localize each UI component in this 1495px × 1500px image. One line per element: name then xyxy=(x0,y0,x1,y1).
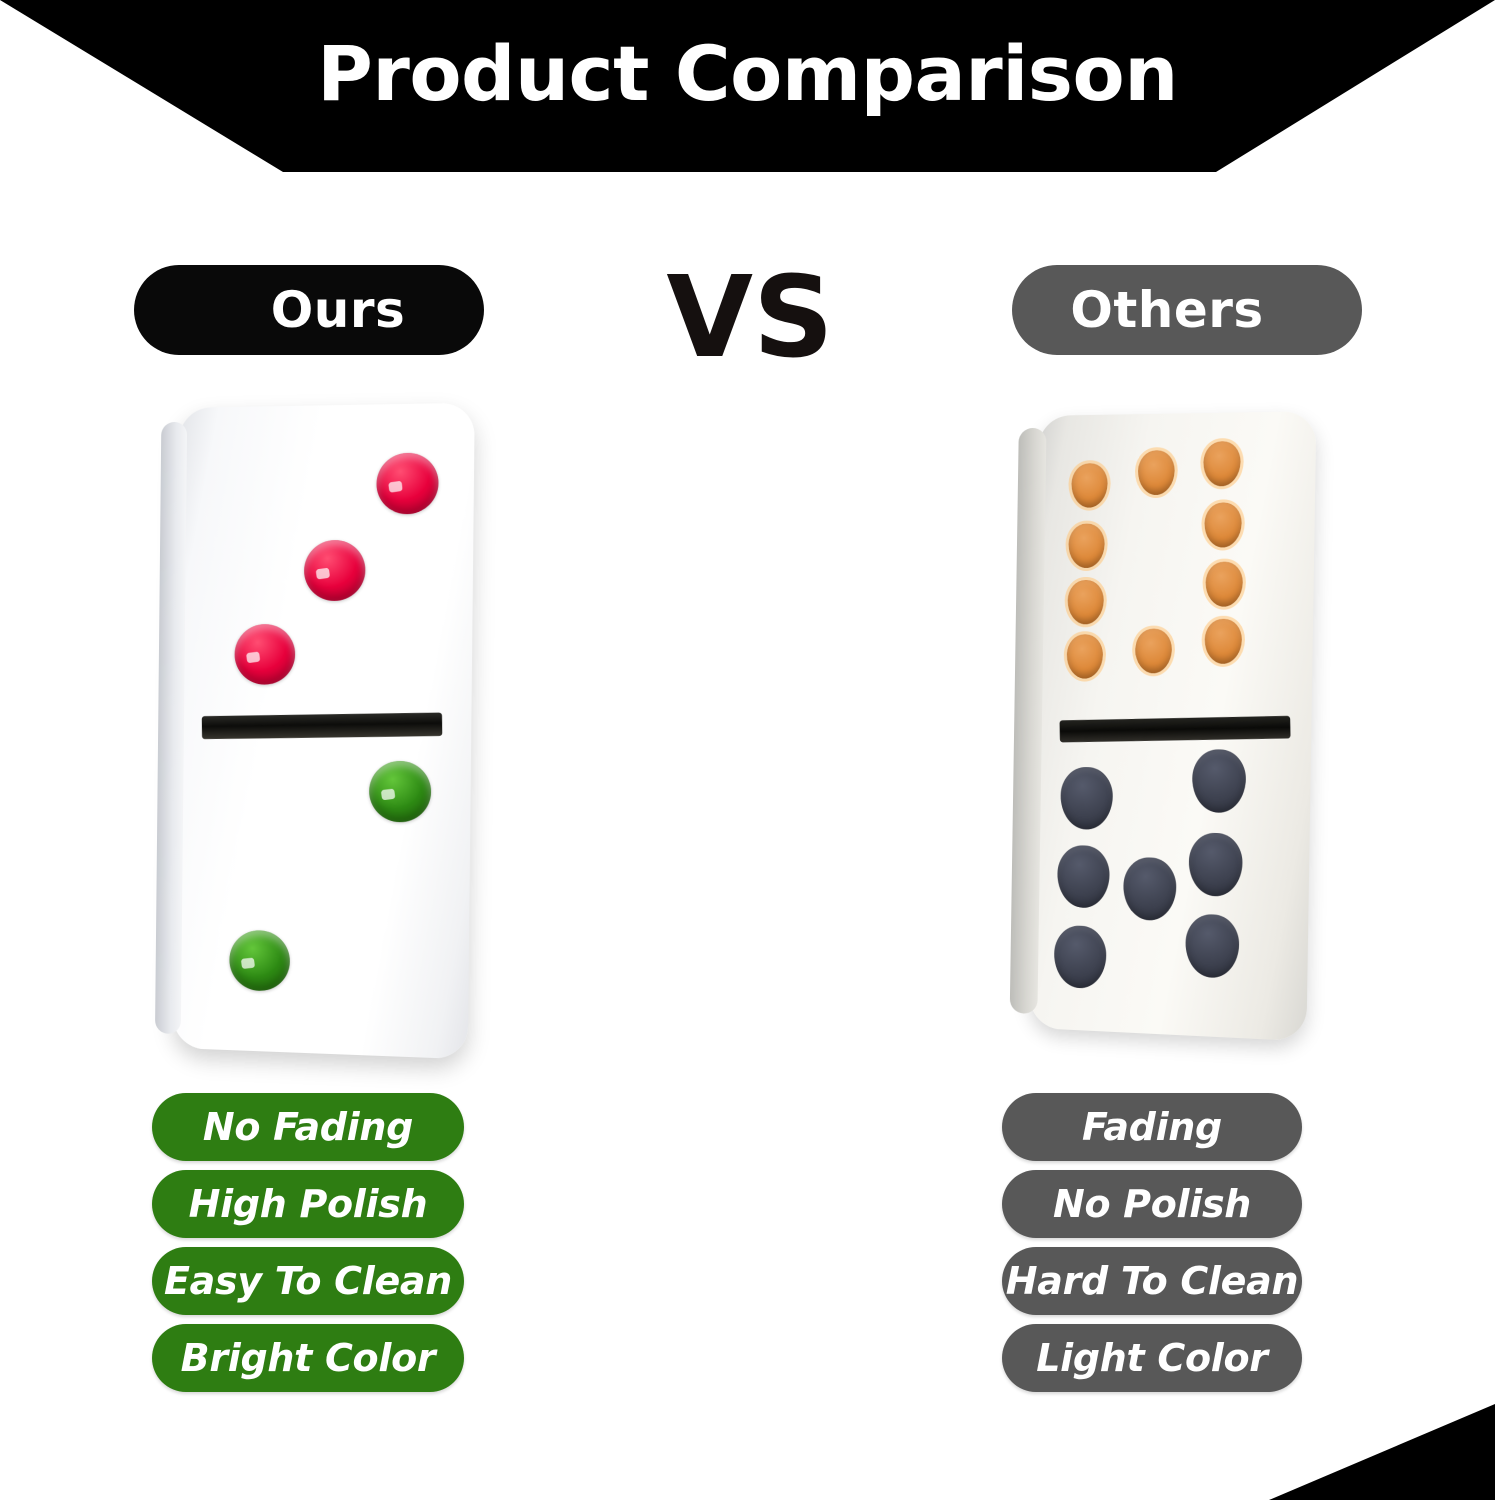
others-orange-pip xyxy=(1067,580,1104,624)
others-dark-pip xyxy=(1192,749,1247,813)
ours-green-pip xyxy=(369,761,432,823)
comparison-header-row: Ours VS Others xyxy=(0,265,1495,375)
others-top-pip-group xyxy=(1039,411,1317,416)
others-label-text: Others xyxy=(1070,281,1263,339)
list-item: No Polish xyxy=(1002,1170,1302,1238)
vs-label: VS xyxy=(640,257,860,380)
others-dark-pip xyxy=(1060,767,1113,831)
others-domino-tile xyxy=(1029,411,1316,1041)
others-dark-pip xyxy=(1185,913,1239,978)
others-orange-pip xyxy=(1203,441,1241,486)
others-orange-pip xyxy=(1135,629,1172,674)
list-item: Bright Color xyxy=(152,1324,464,1392)
list-item: Fading xyxy=(1002,1093,1302,1161)
list-item: Light Color xyxy=(1002,1324,1302,1392)
others-product-image xyxy=(1020,410,1340,1060)
ours-red-pip xyxy=(234,624,295,685)
list-item: Easy To Clean xyxy=(152,1247,464,1315)
ours-top-pip-group xyxy=(179,403,474,408)
list-item: Hard To Clean xyxy=(1002,1247,1302,1315)
others-orange-pip xyxy=(1066,634,1103,679)
others-orange-pip xyxy=(1071,463,1108,508)
others-orange-pip xyxy=(1068,524,1105,568)
bottom-right-corner-wedge xyxy=(1269,1404,1495,1500)
ours-red-pip xyxy=(304,540,366,601)
others-orange-pip xyxy=(1138,450,1175,495)
others-dark-pip xyxy=(1123,857,1177,922)
badge-label: Bright Color xyxy=(181,1336,436,1380)
list-item: No Fading xyxy=(152,1093,464,1161)
page-title: Product Comparison xyxy=(0,36,1495,112)
ours-label-pill: Ours xyxy=(134,265,484,355)
others-orange-pip xyxy=(1204,502,1242,547)
list-item: High Polish xyxy=(152,1170,464,1238)
badge-label: Easy To Clean xyxy=(164,1259,452,1303)
ours-feature-list: No Fading High Polish Easy To Clean Brig… xyxy=(152,1093,464,1392)
others-dark-pip xyxy=(1188,832,1243,897)
badge-label: No Fading xyxy=(203,1105,413,1149)
badge-label: Hard To Clean xyxy=(1006,1259,1298,1303)
others-orange-pip xyxy=(1205,562,1243,607)
others-dark-pip xyxy=(1054,925,1107,989)
badge-label: No Polish xyxy=(1053,1182,1251,1226)
ours-green-pip xyxy=(229,930,290,992)
ours-bottom-pip-group xyxy=(179,403,474,408)
others-feature-list: Fading No Polish Hard To Clean Light Col… xyxy=(1002,1093,1302,1392)
badge-label: Light Color xyxy=(1036,1336,1267,1380)
ours-red-pip xyxy=(376,452,439,514)
others-orange-pip xyxy=(1204,619,1242,664)
others-bottom-pip-group xyxy=(1039,411,1317,416)
ours-product-image xyxy=(160,400,500,1070)
others-domino-divider xyxy=(1060,716,1291,743)
ours-domino-divider xyxy=(202,713,443,740)
ours-domino-tile xyxy=(173,403,475,1060)
badge-label: Fading xyxy=(1082,1105,1222,1149)
others-label-pill: Others xyxy=(1012,265,1362,355)
ours-label-text: Ours xyxy=(271,281,406,339)
badge-label: High Polish xyxy=(189,1182,428,1226)
others-dark-pip xyxy=(1057,845,1110,909)
